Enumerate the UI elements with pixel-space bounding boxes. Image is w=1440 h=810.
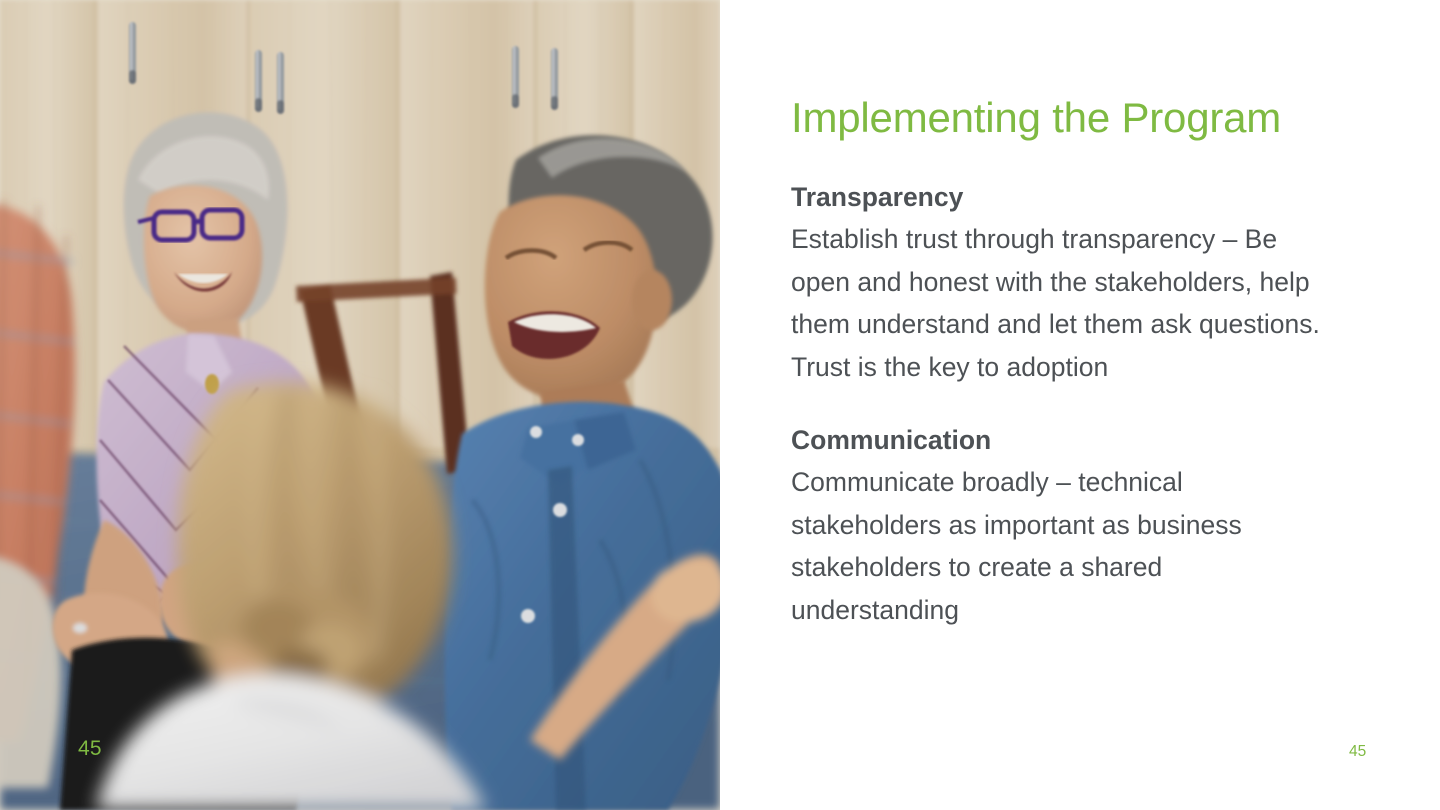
- page-number-photo: 45: [78, 738, 102, 759]
- block-heading-communication: Communication: [791, 419, 1331, 461]
- block-text-communication: Communicate broadly – technical stakehol…: [791, 461, 1331, 631]
- page-title: Implementing the Program: [791, 94, 1391, 141]
- photo-vignette: [0, 0, 720, 810]
- slide-content-panel: Implementing the Program Transparency Es…: [720, 0, 1440, 810]
- slide-photo: 45: [0, 0, 720, 810]
- content-block-communication: Communication Communicate broadly – tech…: [791, 419, 1331, 631]
- slide-body-copy: Transparency Establish trust through tra…: [791, 176, 1331, 631]
- photo-illustration: [0, 0, 720, 810]
- page-number-content: 45: [1349, 744, 1366, 760]
- presentation-slide: 45 Implementing the Program Transparency…: [0, 0, 1440, 810]
- content-block-transparency: Transparency Establish trust through tra…: [791, 176, 1331, 388]
- block-spacer: [791, 388, 1331, 419]
- block-heading-transparency: Transparency: [791, 176, 1331, 218]
- block-text-transparency: Establish trust through transparency – B…: [791, 218, 1331, 388]
